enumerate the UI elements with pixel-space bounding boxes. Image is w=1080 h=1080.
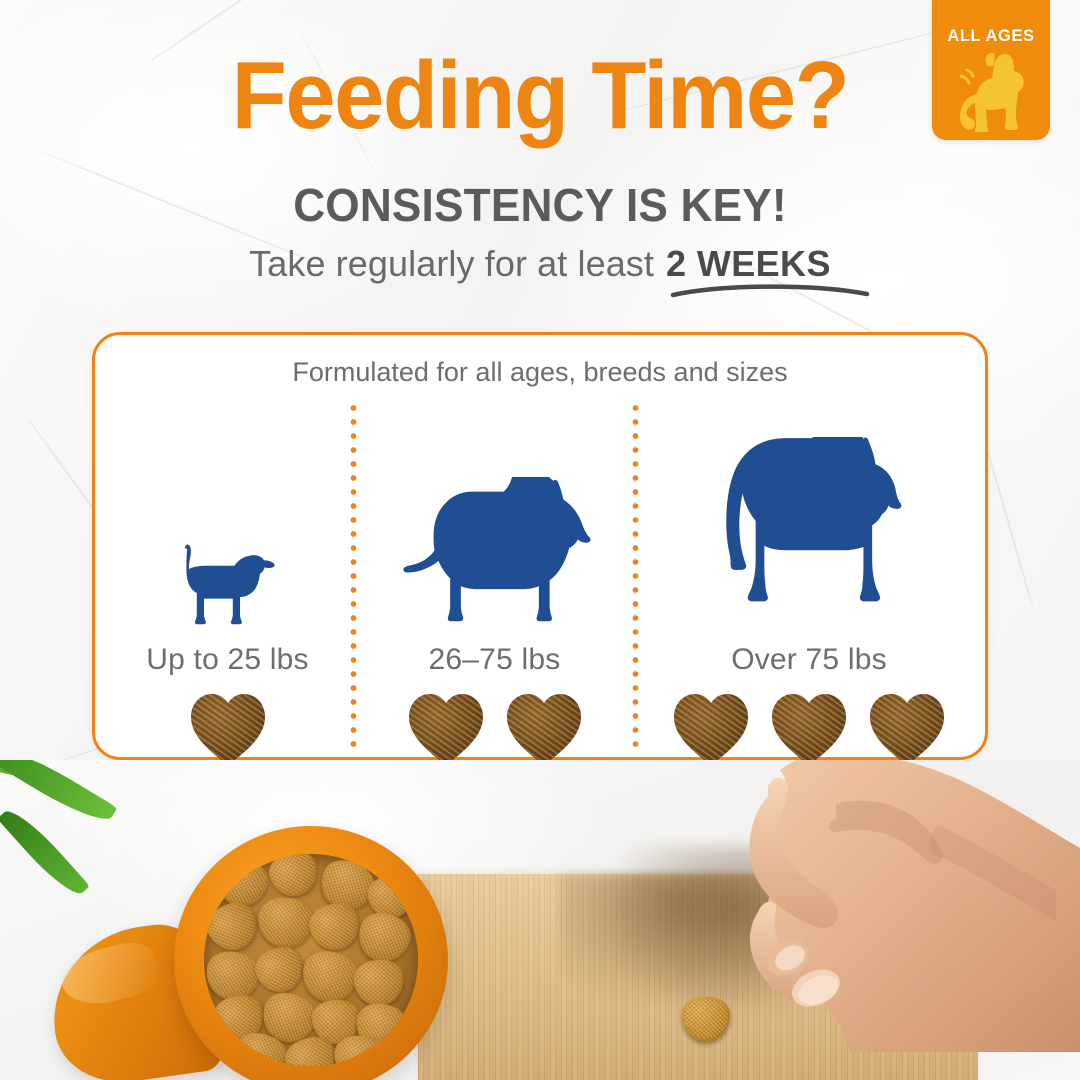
feeding-column-large: Over 75 lbs xyxy=(639,391,979,751)
poster-canvas: ALL AGES Feeding Time? CONSISTENCY IS KE… xyxy=(0,0,1080,1080)
column-divider xyxy=(632,401,639,747)
heart-treat-icon xyxy=(865,689,949,769)
heart-treat-icon xyxy=(186,689,270,769)
feeding-column-medium: 26–75 lbs xyxy=(357,391,632,751)
card-note: Formulated for all ages, breeds and size… xyxy=(95,357,985,388)
subheading: CONSISTENCY IS KEY! xyxy=(22,178,1059,232)
weight-label-large: Over 75 lbs xyxy=(639,643,979,677)
dog-illustration-wrap xyxy=(357,433,632,633)
heart-treat-icon xyxy=(502,689,586,769)
large-dog-icon xyxy=(698,437,920,633)
treat-count-small xyxy=(105,689,350,769)
dog-illustration-wrap xyxy=(105,433,350,633)
small-dog-icon xyxy=(164,529,292,633)
tagline-prefix: Take regularly for at least xyxy=(249,243,654,284)
underline-swoosh-icon xyxy=(670,282,870,298)
heart-treat-icon xyxy=(669,689,753,769)
feeding-column-small: Up to 25 lbs xyxy=(105,391,350,751)
weight-label-medium: 26–75 lbs xyxy=(357,643,632,677)
product-photo xyxy=(0,760,1080,1080)
medium-dog-icon xyxy=(397,477,593,633)
dog-illustration-wrap xyxy=(639,433,979,633)
treat-count-large xyxy=(639,689,979,769)
page-title: Feeding Time? xyxy=(32,48,1047,144)
column-divider xyxy=(350,401,357,747)
food-bowl xyxy=(174,826,448,1080)
tagline-duration: 2 WEEKS xyxy=(666,243,831,284)
weight-label-small: Up to 25 lbs xyxy=(105,643,350,677)
tagline: Take regularly for at least2 WEEKS xyxy=(0,243,1080,285)
heart-treat-icon xyxy=(767,689,851,769)
feeding-guide-card: Formulated for all ages, breeds and size… xyxy=(92,332,988,760)
heart-treat-icon xyxy=(404,689,488,769)
bowl-interior xyxy=(204,854,418,1066)
treat-count-medium xyxy=(357,689,632,769)
